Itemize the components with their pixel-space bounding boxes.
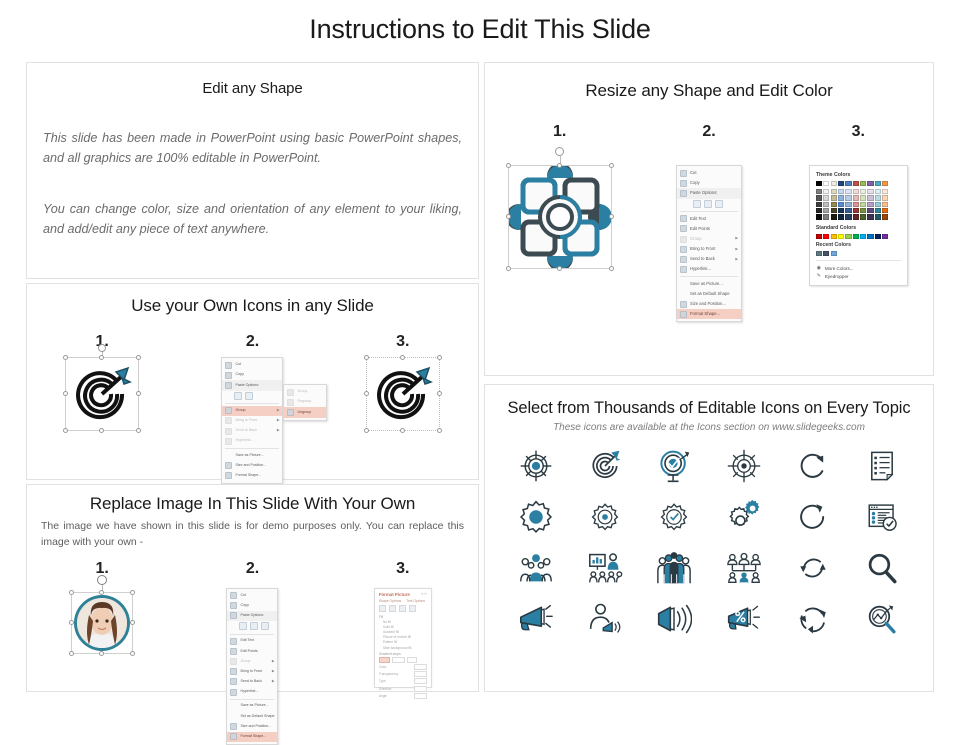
color-swatch[interactable]: [831, 195, 837, 200]
color-swatch[interactable]: [853, 208, 859, 213]
icon-cell-reload-circular[interactable]: [778, 496, 847, 538]
copy-icon: [225, 372, 232, 379]
context-menu-item-edit-text[interactable]: Edit Text: [227, 636, 277, 646]
color-swatch[interactable]: [823, 202, 829, 207]
resize-handle[interactable]: [136, 391, 141, 396]
standard-colors-row[interactable]: [816, 234, 901, 239]
color-swatch[interactable]: [823, 189, 829, 194]
color-swatch[interactable]: [875, 234, 881, 239]
type-label: Type: [379, 679, 412, 683]
color-swatch[interactable]: [882, 189, 888, 194]
color-swatch[interactable]: [816, 181, 822, 186]
group-icon: [680, 236, 687, 243]
color-swatch[interactable]: [875, 208, 881, 213]
panel-heading-resize-shape: Resize any Shape and Edit Color: [485, 81, 933, 101]
resize-handle[interactable]: [437, 391, 442, 396]
color-swatch[interactable]: [845, 181, 851, 186]
icon-cell-loudspeaker[interactable]: [640, 598, 709, 640]
color-swatch[interactable]: [867, 234, 873, 239]
color-swatch[interactable]: [838, 195, 844, 200]
color-swatch[interactable]: [838, 208, 844, 213]
resize-handle[interactable]: [69, 620, 74, 625]
icon-cell-gear-small[interactable]: [570, 496, 639, 538]
color-swatch[interactable]: [823, 208, 829, 213]
icon-cell-gear-check[interactable]: [640, 496, 709, 538]
color-swatch[interactable]: [853, 202, 859, 207]
magnifier-icon: [865, 551, 899, 585]
context-menu-item-save-as-picture[interactable]: Save as Picture...: [222, 450, 282, 460]
edit-text-icon: [230, 638, 237, 645]
icon-cell-presentation-meeting[interactable]: [570, 547, 639, 589]
color-swatch[interactable]: [816, 208, 822, 213]
resize-handle[interactable]: [136, 428, 141, 433]
replace-image-note: The image we have shown in this slide is…: [41, 519, 464, 551]
copy-icon: [230, 602, 237, 609]
color-swatch[interactable]: [823, 251, 829, 256]
theme-color-column[interactable]: [882, 181, 888, 220]
context-menu-item-hyperlink[interactable]: Hyperlink...: [222, 436, 282, 446]
icon-cell-checklist-approved[interactable]: [848, 496, 917, 538]
icon-cell-refresh-clockwise[interactable]: [778, 445, 847, 487]
color-swatch[interactable]: [882, 181, 888, 186]
submenu-item-ungroup[interactable]: Ungroup: [284, 407, 326, 417]
theme-color-column[interactable]: [831, 181, 837, 220]
paste-option-icons[interactable]: [222, 391, 282, 402]
direction-label: Direction: [379, 687, 412, 691]
color-swatch[interactable]: [831, 202, 837, 207]
context-menu[interactable]: Cut Copy Paste Options: Edit Text Edit P…: [676, 165, 742, 322]
submenu-item-group[interactable]: Group: [284, 387, 326, 397]
context-menu-item-set-default-shape[interactable]: Set as Default Shape: [677, 289, 741, 299]
context-menu-item-copy[interactable]: Copy: [222, 370, 282, 380]
color-swatch[interactable]: [845, 202, 851, 207]
slide-canvas: Instructions to Edit This Slide Edit any…: [0, 0, 960, 720]
resize-handle[interactable]: [506, 266, 511, 271]
context-menu-item-format-shape[interactable]: Format Shape...: [222, 471, 282, 481]
context-menu-item-save-as-picture[interactable]: Save as Picture...: [677, 279, 741, 289]
fill-option[interactable]: Solid fill: [383, 625, 427, 629]
format-pane-icon-row[interactable]: [379, 605, 427, 612]
context-menu-item-send-to-back[interactable]: Send to Back▶: [677, 254, 741, 264]
panel-editable-icons: Select from Thousands of Editable Icons …: [484, 384, 934, 692]
rotate-handle[interactable]: [555, 147, 564, 156]
context-menu-item-send-to-back[interactable]: Send to Back▶: [227, 677, 277, 687]
color-swatch[interactable]: [867, 195, 873, 200]
theme-color-column[interactable]: [853, 181, 859, 220]
resize-handle[interactable]: [437, 355, 442, 360]
resize-shape-step-1: 1.: [485, 123, 634, 322]
resize-handle[interactable]: [130, 620, 135, 625]
color-swatch[interactable]: [867, 208, 873, 213]
context-menu-item-paste-options[interactable]: Paste Options:: [227, 611, 277, 621]
color-swatch[interactable]: [816, 234, 822, 239]
context-menu-item-copy[interactable]: Copy: [677, 178, 741, 188]
send-to-back-icon: [225, 428, 232, 435]
fill-option[interactable]: No fill: [383, 620, 427, 624]
close-icon[interactable]: ▾ ✕: [421, 592, 427, 596]
sync-arrows-icon: [796, 551, 830, 585]
gradient-stops-label: Gradient stops: [379, 652, 427, 656]
color-swatch[interactable]: [816, 202, 822, 207]
paste-keep-format-icon: [234, 392, 242, 400]
panel-heading-use-your-own-icons: Use your Own Icons in any Slide: [27, 296, 478, 316]
bring-to-front-icon: [230, 668, 237, 675]
icon-cell-double-gears[interactable]: [709, 496, 778, 538]
context-menu-item-bring-to-front[interactable]: Bring to Front▶: [677, 244, 741, 254]
context-menu-item-set-default-shape[interactable]: Set as Default Shape: [227, 711, 277, 721]
color-swatch[interactable]: [867, 189, 873, 194]
dartboard-arrow-icon: [66, 358, 138, 430]
group-icon: [225, 407, 232, 414]
own-icons-step-3: 3.: [328, 333, 478, 484]
context-menu-item-size-and-position[interactable]: Size and Position...: [227, 722, 277, 732]
send-to-back-icon: [680, 256, 687, 263]
theme-colors-grid[interactable]: [816, 181, 901, 220]
paste-merge-icon: [704, 200, 712, 208]
color-swatch[interactable]: [860, 202, 866, 207]
step-number: 3.: [396, 560, 409, 578]
color-swatch[interactable]: [823, 234, 829, 239]
stop-position[interactable]: [407, 657, 417, 663]
gradient-stop-chip[interactable]: [379, 657, 390, 663]
icon-cell-magnifier[interactable]: [848, 547, 917, 589]
panel-heading-replace-image: Replace Image In This Slide With Your Ow…: [27, 494, 478, 514]
paste-keep-format-icon: [239, 622, 247, 630]
context-menu-item-edit-points[interactable]: Edit Points: [227, 646, 277, 656]
tab-text-options[interactable]: Text Options: [406, 599, 425, 603]
fill-option[interactable]: Picture or texture fill: [383, 635, 427, 639]
theme-color-column[interactable]: [867, 181, 873, 220]
color-swatch[interactable]: [860, 234, 866, 239]
reload-circular-icon: [796, 500, 830, 534]
resize-handle[interactable]: [69, 651, 74, 656]
org-chart-team-icon: [726, 551, 762, 585]
resize-handle[interactable]: [557, 163, 562, 168]
icon-cell-sync-arrows[interactable]: [778, 547, 847, 589]
color-swatch[interactable]: [816, 189, 822, 194]
type-select[interactable]: [414, 678, 427, 684]
resize-handle[interactable]: [557, 266, 562, 271]
paste-merge-icon: [250, 622, 258, 630]
context-menu-item-group[interactable]: Group▶: [222, 406, 282, 416]
crosshair-dot-icon: [726, 448, 762, 484]
step-number: 2.: [702, 123, 715, 141]
icon-cell-crosshair-dot[interactable]: [709, 445, 778, 487]
icon-cell-team-standing[interactable]: [640, 547, 709, 589]
color-swatch[interactable]: [838, 234, 844, 239]
angle-input[interactable]: [414, 693, 427, 699]
hyperlink-icon: [230, 689, 237, 696]
theme-color-column[interactable]: [845, 181, 851, 220]
resize-handle[interactable]: [400, 428, 405, 433]
presentation-meeting-icon: [587, 551, 623, 585]
context-menu-item-bring-to-front[interactable]: Bring to Front▶: [227, 667, 277, 677]
hyperlink-icon: [680, 266, 687, 273]
icon-cell-person-announce[interactable]: [570, 598, 639, 640]
eyedropper-option[interactable]: ✎Eyedropper: [816, 272, 901, 280]
color-swatch[interactable]: [831, 214, 837, 219]
color-swatch[interactable]: [875, 202, 881, 207]
resize-handle[interactable]: [437, 428, 442, 433]
context-menu-item-cut[interactable]: Cut: [222, 360, 282, 370]
color-swatch[interactable]: [816, 214, 822, 219]
color-swatch[interactable]: [845, 195, 851, 200]
color-swatch[interactable]: [823, 181, 829, 186]
context-menu-item-size-and-position[interactable]: Size and Position...: [677, 299, 741, 309]
color-swatch[interactable]: [882, 202, 888, 207]
context-menu-item-hyperlink[interactable]: Hyperlink...: [227, 687, 277, 697]
theme-color-column[interactable]: [816, 181, 822, 220]
color-swatch[interactable]: [875, 195, 881, 200]
color-swatch[interactable]: [882, 214, 888, 219]
format-picture-pane[interactable]: Format Picture ▾ ✕ Shape Options Text Op…: [374, 588, 432, 688]
color-swatch[interactable]: [831, 189, 837, 194]
resize-shape-step-3: 3. Theme Colors Standard Colors Recent C…: [784, 123, 933, 322]
resize-handle[interactable]: [506, 163, 511, 168]
fill-option[interactable]: Pattern fill: [383, 640, 427, 644]
step-number: 2.: [246, 333, 259, 351]
resize-handle[interactable]: [609, 214, 614, 219]
resize-handle[interactable]: [400, 355, 405, 360]
context-menu-item-group[interactable]: Group▶: [227, 656, 277, 666]
step-number: 3.: [396, 333, 409, 351]
recent-colors-row[interactable]: [816, 251, 901, 256]
resize-handle[interactable]: [69, 590, 74, 595]
color-swatch[interactable]: [838, 202, 844, 207]
icon-cell-megaphone-percent[interactable]: [709, 598, 778, 640]
copy-icon: [680, 180, 687, 187]
color-swatch[interactable]: [831, 251, 837, 256]
color-swatch[interactable]: [831, 208, 837, 213]
color-swatch[interactable]: [845, 208, 851, 213]
context-menu-item-format-shape[interactable]: Format Shape...: [677, 309, 741, 319]
color-swatch[interactable]: [853, 189, 859, 194]
submenu-item-regroup[interactable]: Regroup: [284, 397, 326, 407]
resize-handle[interactable]: [63, 428, 68, 433]
panel-edit-any-shape: Edit any Shape This slide has been made …: [26, 62, 479, 279]
target-stand-icon: [656, 448, 692, 484]
format-picture-pane-figure: Format Picture ▾ ✕ Shape Options Text Op…: [374, 584, 432, 688]
picture-icon: [409, 605, 416, 612]
color-swatch[interactable]: [838, 214, 844, 219]
magnifier-target-icon: [865, 602, 899, 636]
own-icons-step-2: 2. Cut Copy Paste Options: Group▶ Bring …: [177, 333, 327, 484]
target-icon-selected-figure: [65, 357, 139, 431]
icon-cell-checklist-document[interactable]: [848, 445, 917, 487]
color-swatch[interactable]: [860, 195, 866, 200]
context-menu-item-send-to-back[interactable]: Send to Back▶: [222, 426, 282, 436]
resize-handle[interactable]: [130, 651, 135, 656]
replace-image-step-3: 3. Format Picture ▾ ✕ Shape Options Text…: [328, 560, 478, 745]
color-swatch[interactable]: [823, 214, 829, 219]
dartboard-arrow-icon: [587, 448, 623, 484]
color-swatch[interactable]: [845, 234, 851, 239]
color-swatch[interactable]: [816, 195, 822, 200]
loudspeaker-icon: [656, 603, 692, 635]
context-menu[interactable]: Cut Copy Paste Options: Edit Text Edit P…: [226, 588, 278, 745]
color-swatch[interactable]: [838, 189, 844, 194]
icon-cell-magnifier-target[interactable]: [848, 598, 917, 640]
step-number: 2.: [246, 560, 259, 578]
color-swatch[interactable]: [831, 181, 837, 186]
color-swatch[interactable]: [853, 234, 859, 239]
theme-color-column[interactable]: [823, 181, 829, 220]
color-swatch[interactable]: [875, 214, 881, 219]
icon-cell-target-stand[interactable]: [640, 445, 709, 487]
resize-handle[interactable]: [609, 266, 614, 271]
resize-shape-steps: 1.: [485, 123, 933, 322]
context-submenu-group[interactable]: Group Regroup Ungroup: [283, 384, 327, 421]
context-menu-item-cut[interactable]: Cut: [227, 591, 277, 601]
icon-cell-org-chart-team[interactable]: [709, 547, 778, 589]
color-swatch[interactable]: [816, 251, 822, 256]
resize-handle[interactable]: [506, 214, 511, 219]
direction-select[interactable]: [414, 686, 427, 692]
context-menu-item-paste-options[interactable]: Paste Options:: [222, 380, 282, 390]
dartboard-arrow-icon: [367, 358, 439, 430]
icon-cell-target-crosshair[interactable]: [501, 445, 570, 487]
edit-points-icon: [230, 648, 237, 655]
size-position-icon: [680, 301, 687, 308]
size-properties-icon: [399, 605, 406, 612]
resize-handle[interactable]: [99, 428, 104, 433]
cut-icon: [225, 362, 232, 369]
paste-icon: [230, 612, 237, 619]
rotate-handle[interactable]: [97, 575, 107, 585]
resize-handle[interactable]: [99, 651, 104, 656]
color-swatch[interactable]: [831, 234, 837, 239]
context-menu-item-edit-points[interactable]: Edit Points: [677, 224, 741, 234]
paste-option-icons[interactable]: [677, 199, 741, 210]
color-swatch[interactable]: [414, 664, 427, 670]
context-menu-item-copy[interactable]: Copy: [227, 601, 277, 611]
color-swatch[interactable]: [853, 214, 859, 219]
fill-option[interactable]: Gradient fill: [383, 630, 427, 634]
color-swatch[interactable]: [853, 195, 859, 200]
paste-icon: [225, 382, 232, 389]
color-swatch[interactable]: [860, 189, 866, 194]
resize-handle[interactable]: [364, 355, 369, 360]
context-menu-group-figure: Cut Copy Paste Options: Group▶ Bring to …: [221, 357, 283, 484]
bring-to-front-icon: [225, 417, 232, 424]
size-position-icon: [230, 723, 237, 730]
replace-image-step-2: 2. Cut Copy Paste Options: Edit Text Edi…: [177, 560, 327, 745]
context-menu-item-hyperlink[interactable]: Hyperlink...: [677, 265, 741, 275]
context-menu-item-edit-text[interactable]: Edit Text: [677, 214, 741, 224]
color-swatch[interactable]: [823, 195, 829, 200]
context-menu-item-save-as-picture[interactable]: Save as Picture...: [227, 701, 277, 711]
angle-label: Angle: [379, 694, 412, 698]
target-icon-ungrouped-figure: [366, 357, 440, 431]
color-swatch[interactable]: [867, 214, 873, 219]
color-swatch[interactable]: [838, 181, 844, 186]
color-swatch[interactable]: [875, 181, 881, 186]
replace-image-steps: 1.: [27, 560, 478, 745]
own-icons-steps: 1.: [27, 333, 478, 484]
theme-colors-label: Theme Colors: [816, 172, 901, 178]
color-picker-panel[interactable]: Theme Colors Standard Colors Recent Colo…: [809, 165, 908, 286]
own-icons-step-1: 1.: [27, 333, 177, 484]
icon-cell-megaphone[interactable]: [501, 598, 570, 640]
context-menu-item-paste-options[interactable]: Paste Options:: [677, 188, 741, 198]
color-swatch[interactable]: [867, 181, 873, 186]
people-group-icon: [518, 551, 554, 585]
more-colors-option[interactable]: ◉More Colors...: [816, 264, 901, 272]
icon-cell-people-group[interactable]: [501, 547, 570, 589]
resize-handle[interactable]: [364, 391, 369, 396]
step-number: 1.: [553, 123, 566, 141]
resize-handle[interactable]: [130, 590, 135, 595]
section-fill[interactable]: Fill: [379, 615, 427, 619]
person-announce-icon: [587, 602, 623, 636]
color-swatch[interactable]: [875, 189, 881, 194]
refresh-triangle-arrows-icon: [796, 602, 830, 636]
panel-heading-editable-icons: Select from Thousands of Editable Icons …: [485, 399, 933, 418]
panel-use-your-own-icons: Use your Own Icons in any Slide 1.: [26, 283, 479, 480]
paste-option-icons[interactable]: [227, 621, 277, 632]
color-swatch[interactable]: [845, 189, 851, 194]
paste-picture-icon: [245, 392, 253, 400]
color-swatch[interactable]: [882, 208, 888, 213]
context-menu-item-size-and-position[interactable]: Size and Position...: [222, 461, 282, 471]
target-crosshair-icon: [518, 448, 554, 484]
fill-option[interactable]: Slide background fill: [383, 646, 427, 650]
color-swatch[interactable]: [860, 181, 866, 186]
group-icon: [287, 389, 294, 396]
color-dropdown[interactable]: [392, 657, 405, 663]
color-swatch[interactable]: [882, 234, 888, 239]
four-squares-shape-figure: [508, 165, 612, 269]
context-menu-item-group[interactable]: Group▶: [677, 234, 741, 244]
resize-handle[interactable]: [609, 163, 614, 168]
edit-text-icon: [680, 215, 687, 222]
portrait-photo: [72, 593, 132, 653]
four-squares-shape-icon: [509, 166, 611, 268]
double-gears-icon: [726, 499, 762, 535]
color-swatch[interactable]: [845, 214, 851, 219]
tab-shape-options[interactable]: Shape Options: [379, 599, 401, 603]
color-swatch[interactable]: [860, 208, 866, 213]
context-menu-item-format-shape[interactable]: Format Shape...: [227, 732, 277, 742]
color-swatch[interactable]: [853, 181, 859, 186]
color-picker-figure: Theme Colors Standard Colors Recent Colo…: [809, 165, 908, 286]
theme-color-column[interactable]: [838, 181, 844, 220]
context-menu-item-bring-to-front[interactable]: Bring to Front▶: [222, 416, 282, 426]
theme-color-column[interactable]: [860, 181, 866, 220]
portrait-photo-figure: [71, 584, 133, 654]
theme-color-column[interactable]: [875, 181, 881, 220]
gear-solid-icon: [518, 499, 554, 535]
icon-cell-dartboard-arrow[interactable]: [570, 445, 639, 487]
resize-handle[interactable]: [364, 428, 369, 433]
panel-subheading-editable-icons: These icons are available at the Icons s…: [485, 422, 933, 433]
resize-handle[interactable]: [136, 355, 141, 360]
transparency-input[interactable]: [414, 671, 427, 677]
icon-cell-gear-solid[interactable]: [501, 496, 570, 538]
context-menu[interactable]: Cut Copy Paste Options: Group▶ Bring to …: [221, 357, 283, 484]
icon-cell-refresh-triangle-arrows[interactable]: [778, 598, 847, 640]
checklist-approved-icon: [865, 500, 899, 534]
paste-icon: [680, 190, 687, 197]
team-standing-icon: [656, 551, 692, 585]
resize-handle[interactable]: [99, 590, 104, 595]
color-swatch[interactable]: [860, 214, 866, 219]
color-swatch[interactable]: [867, 202, 873, 207]
format-shape-icon: [225, 472, 232, 479]
gear-check-icon: [657, 500, 691, 534]
color-swatch[interactable]: [882, 195, 888, 200]
context-menu-item-cut[interactable]: Cut: [677, 168, 741, 178]
